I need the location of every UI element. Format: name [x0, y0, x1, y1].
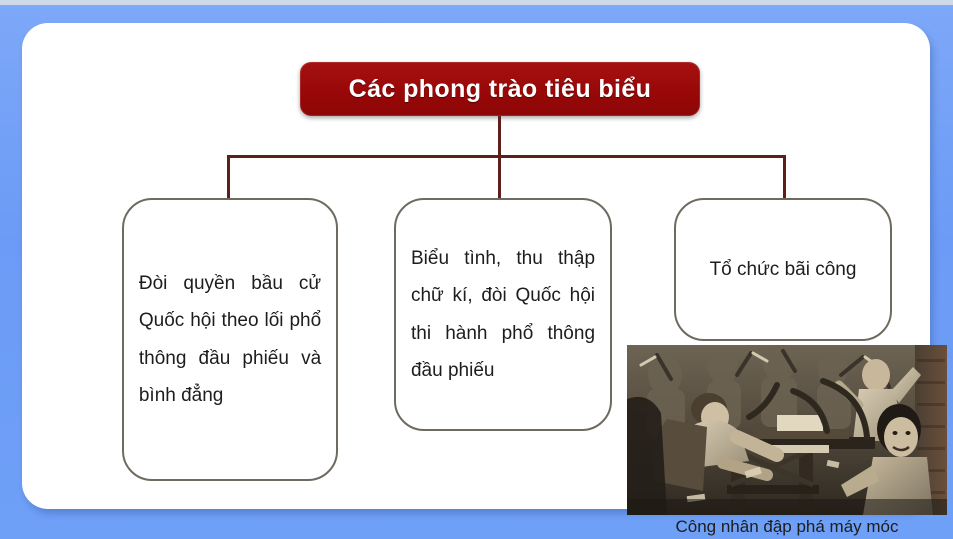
figure-block: Công nhân đập phá máy móc — [627, 345, 947, 515]
top-edge-strip — [0, 0, 953, 5]
diagram-node-1: Đòi quyền bầu cử Quốc hội theo lối phổ t… — [122, 198, 338, 481]
diagram-node-3-text: Tổ chức bãi công — [691, 251, 875, 288]
slide-white-panel: Các phong trào tiêu biểu Đòi quyền bầu c… — [22, 23, 930, 509]
figure-image — [627, 345, 947, 515]
diagram-title-banner: Các phong trào tiêu biểu — [300, 62, 700, 116]
connector-drop-to-node-2 — [498, 155, 501, 199]
figure-caption: Công nhân đập phá máy móc — [627, 517, 947, 537]
slide-canvas: Các phong trào tiêu biểu Đòi quyền bầu c… — [0, 0, 953, 539]
diagram-title-text: Các phong trào tiêu biểu — [349, 75, 652, 104]
connector-stem-from-title — [498, 116, 501, 157]
diagram-node-2-text: Biểu tình, thu thập chữ kí, đòi Quốc hội… — [411, 240, 595, 388]
connector-drop-to-node-1 — [227, 155, 230, 199]
diagram-node-2: Biểu tình, thu thập chữ kí, đòi Quốc hội… — [394, 198, 612, 431]
connector-horizontal-bar — [227, 155, 786, 158]
diagram-node-3: Tổ chức bãi công — [674, 198, 892, 341]
connector-drop-to-node-3 — [783, 155, 786, 199]
diagram-node-1-text: Đòi quyền bầu cử Quốc hội theo lối phổ t… — [139, 265, 321, 413]
